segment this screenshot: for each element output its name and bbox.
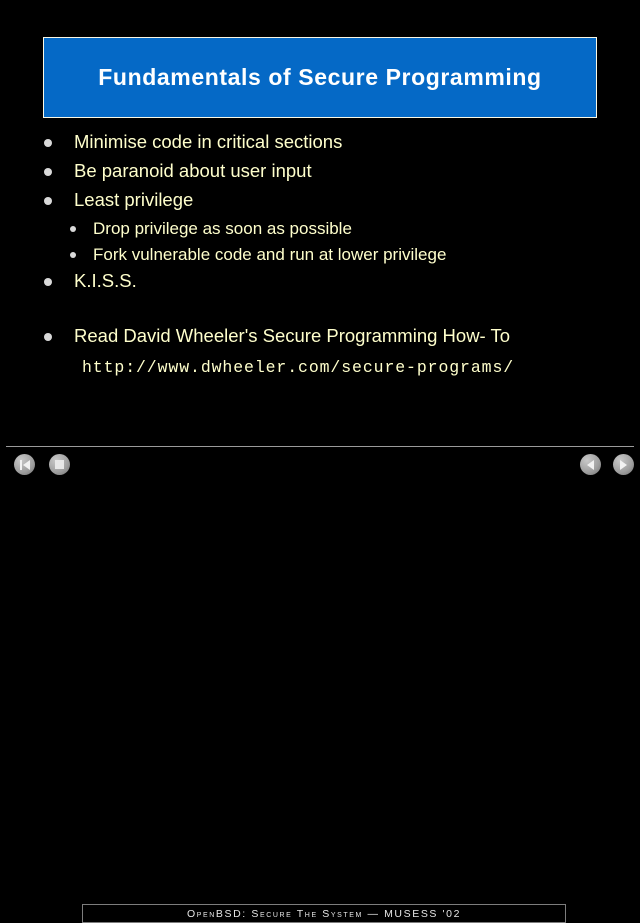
reference-url[interactable]: http://www.dwheeler.com/secure-programs/ xyxy=(0,358,640,377)
list-item: Drop privilege as soon as possible xyxy=(0,218,640,244)
page-title: Fundamentals of Secure Programming xyxy=(98,64,541,91)
footer-divider xyxy=(6,446,634,447)
list-spacer xyxy=(0,299,640,325)
list-item-label: Drop privilege as soon as possible xyxy=(93,218,352,239)
list-item: Least privilege xyxy=(0,189,640,218)
bullet-icon xyxy=(70,226,76,232)
list-item: Be paranoid about user input xyxy=(0,160,640,189)
list-item-label: Fork vulnerable code and run at lower pr… xyxy=(93,244,446,265)
list-item: K.I.S.S. xyxy=(0,270,640,299)
next-slide-icon xyxy=(620,460,627,470)
bullet-icon xyxy=(70,252,76,258)
list-item: Minimise code in critical sections xyxy=(0,131,640,160)
list-item-label: Be paranoid about user input xyxy=(74,160,312,182)
list-item: Fork vulnerable code and run at lower pr… xyxy=(0,244,640,270)
first-slide-icon xyxy=(20,460,30,470)
footer-toolbar: OpenBSD: Secure The System — MUSESS '02 xyxy=(0,450,640,480)
bullet-icon xyxy=(44,278,52,286)
bullet-icon xyxy=(44,139,52,147)
list-item-label: K.I.S.S. xyxy=(74,270,137,292)
first-slide-button[interactable] xyxy=(14,454,35,475)
slide-content: Minimise code in critical sections Be pa… xyxy=(0,131,640,377)
previous-slide-button[interactable] xyxy=(580,454,601,475)
list-item: Read David Wheeler's Secure Programming … xyxy=(0,325,640,354)
slide-title-banner: Fundamentals of Secure Programming xyxy=(43,37,597,118)
next-slide-button[interactable] xyxy=(613,454,634,475)
footer-title-box: OpenBSD: Secure The System — MUSESS '02 xyxy=(82,904,566,923)
list-item-label: Minimise code in critical sections xyxy=(74,131,342,153)
stop-button[interactable] xyxy=(49,454,70,475)
previous-slide-icon xyxy=(587,460,594,470)
bullet-icon xyxy=(44,197,52,205)
list-item-label: Read David Wheeler's Secure Programming … xyxy=(74,325,510,347)
footer-title: OpenBSD: Secure The System — MUSESS '02 xyxy=(187,908,461,920)
stop-icon xyxy=(55,460,64,469)
bullet-icon xyxy=(44,333,52,341)
list-item-label: Least privilege xyxy=(74,189,193,211)
bullet-icon xyxy=(44,168,52,176)
